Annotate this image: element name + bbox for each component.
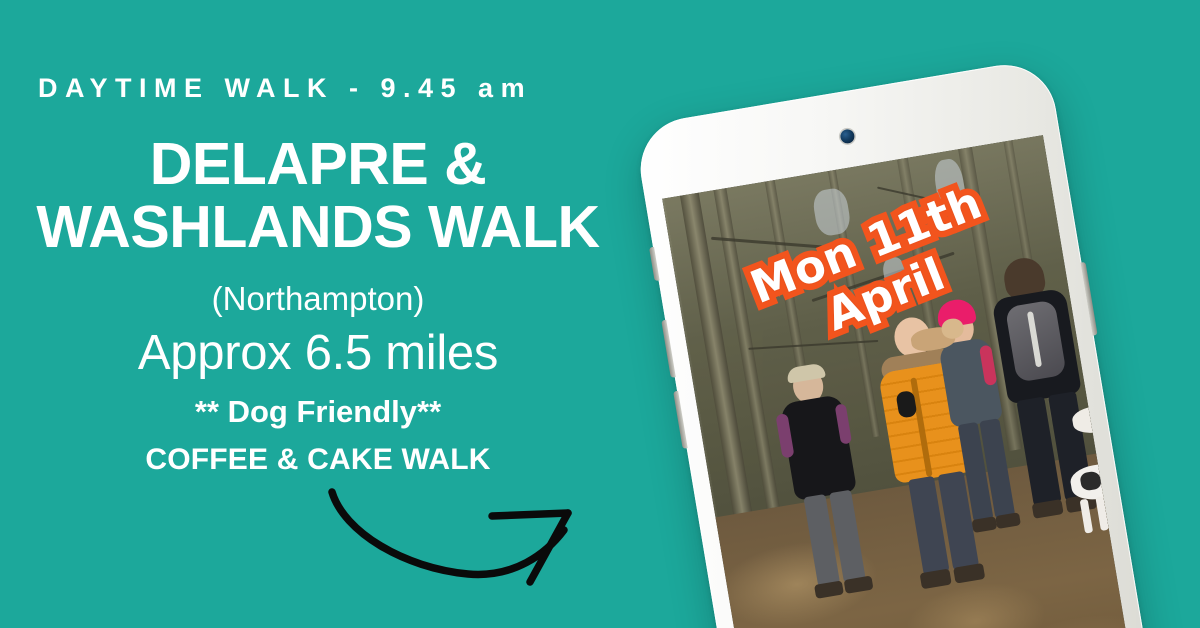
walk-event-poster: DAYTIME WALK - 9.45 am DELAPRE & WASHLAN… [0,0,1200,628]
headline-line-2: WASHLANDS WALK [0,196,636,259]
smartphone-mockup: Mon 11th April [633,57,1169,628]
coffee-cake-note: COFFEE & CAKE WALK [0,443,636,476]
phone-stage: Mon 11th April [600,0,1200,628]
event-time-kicker: DAYTIME WALK - 9.45 am [38,74,598,104]
dog-friendly-note: ** Dog Friendly** [0,395,636,429]
page-title: DELAPRE & WASHLANDS WALK [0,133,636,259]
event-locality: (Northampton) [0,281,636,317]
headline-line-1: DELAPRE & [150,131,486,197]
event-distance: Approx 6.5 miles [0,327,636,381]
poster-text-column: DAYTIME WALK - 9.45 am DELAPRE & WASHLAN… [0,0,636,628]
